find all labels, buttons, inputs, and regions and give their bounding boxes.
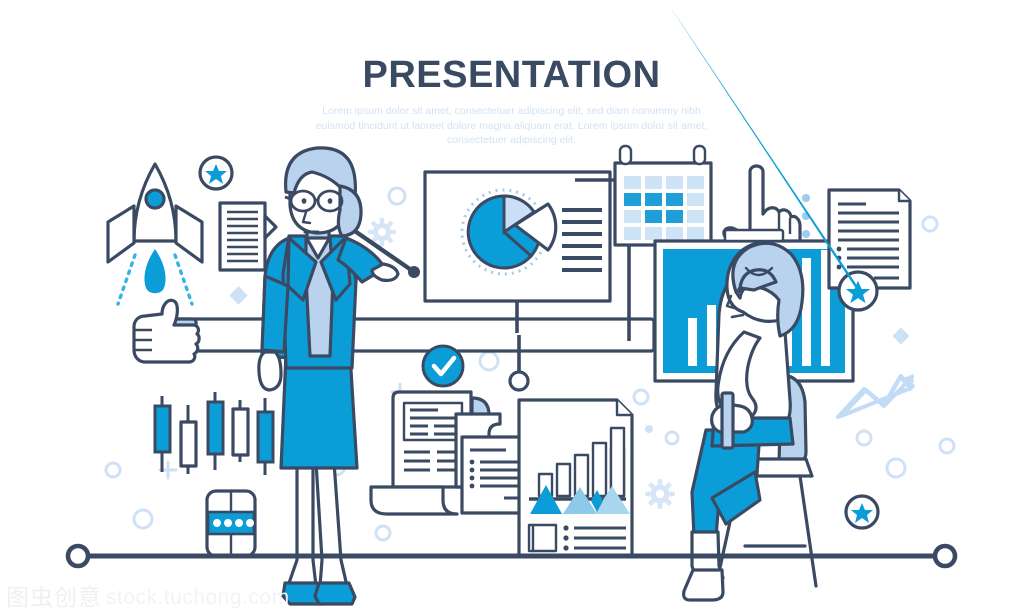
star-badge-bottom-right [846,496,878,528]
presenter-woman [259,148,420,604]
storage-cabinet [207,491,255,556]
page-bar-series-2 [611,428,624,496]
thumbs-up-icon [133,300,199,362]
watermark-url: stock.tuchong.com [106,586,290,610]
illustration-canvas: PRESENTATION Lorem ipsum dolor sit amet,… [0,0,1023,614]
board-with-pie-chart [425,172,610,333]
candlestick-chart [155,392,273,475]
ground-baseline [68,546,955,566]
rocket-icon [108,164,202,304]
star-badge [200,157,232,189]
scene-illustration: .o { fill:none; stroke:#3b4a63; stroke-w… [0,0,1023,614]
watermark-chinese: 图虫创意 [6,578,102,612]
check-circle-icon [423,346,463,386]
report-chart-page [519,400,632,556]
